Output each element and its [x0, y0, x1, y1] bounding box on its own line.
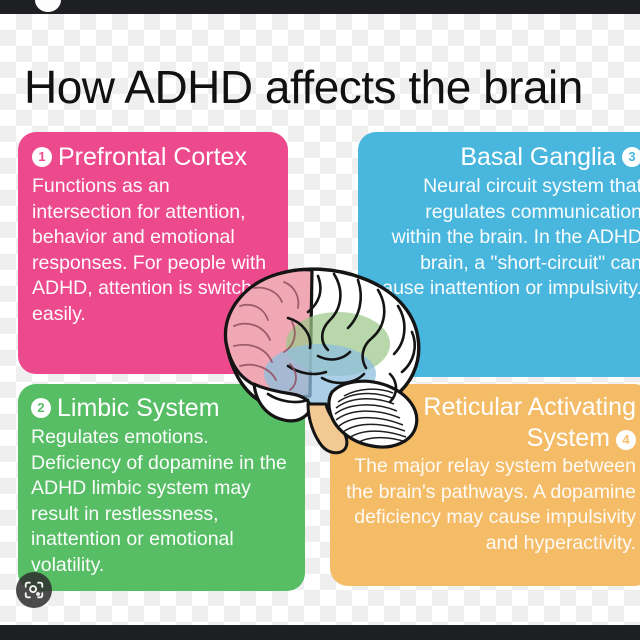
- card-title-prefrontal-cortex: Prefrontal Cortex: [58, 142, 247, 172]
- badge-number-1: 1: [32, 147, 52, 167]
- system-bottom-bar: [0, 625, 640, 640]
- card-title-basal-ganglia: Basal Ganglia: [460, 142, 616, 172]
- badge-number-3: 3: [622, 147, 640, 167]
- card-title-reticular-activating-system: Reticular Activating System: [423, 393, 636, 452]
- google-lens-button[interactable]: [16, 572, 52, 608]
- system-top-bar: [0, 0, 640, 14]
- card-heading-prefrontal-cortex: 1 Prefrontal Cortex: [32, 142, 274, 172]
- badge-number-4: 4: [616, 430, 636, 450]
- screen: How ADHD affects the brain 1 Prefrontal …: [0, 0, 640, 640]
- google-lens-icon: [23, 579, 45, 601]
- notification-pill-icon: [35, 0, 61, 12]
- card-body-reticular-activating-system: The major relay system between the brain…: [344, 454, 636, 556]
- badge-number-2: 2: [31, 398, 51, 418]
- brain-illustration: [192, 246, 448, 468]
- image-canvas: How ADHD affects the brain 1 Prefrontal …: [0, 14, 640, 625]
- card-heading-basal-ganglia: Basal Ganglia 3: [372, 142, 640, 172]
- page-title: How ADHD affects the brain: [24, 60, 583, 114]
